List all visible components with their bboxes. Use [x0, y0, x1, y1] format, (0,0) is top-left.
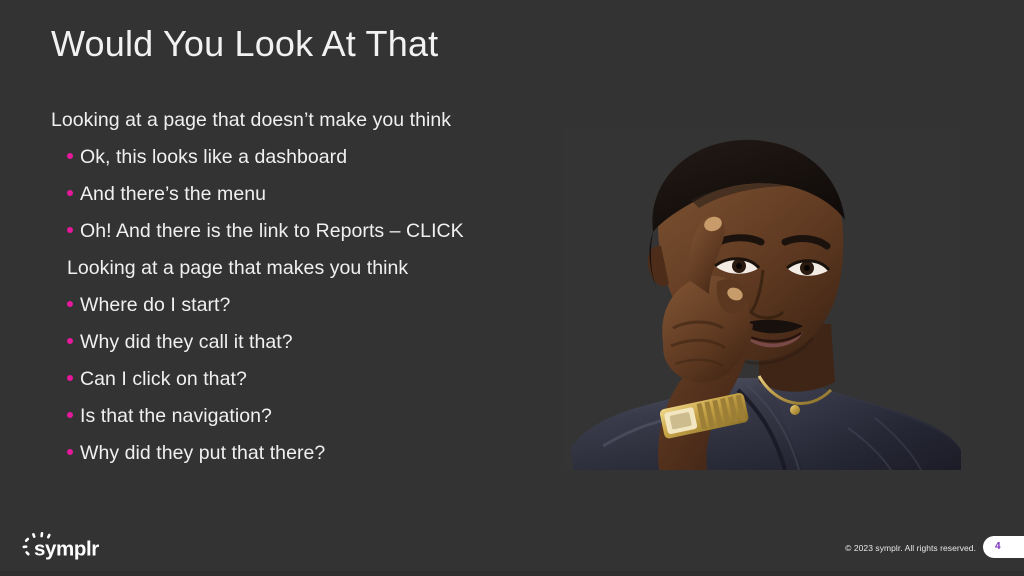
list-item: Why did they call it that?: [51, 331, 551, 368]
list-item: Why did they put that there?: [51, 442, 551, 479]
bullet-dot-icon: [67, 153, 73, 159]
content-line-text: Why did they call it that?: [80, 331, 293, 354]
content-line-text: Looking at a page that doesn’t make you …: [51, 109, 451, 132]
bullet-dot-icon: [67, 338, 73, 344]
bullet-dot-icon: [67, 301, 73, 307]
content-heading-2: Looking at a page that makes you think: [51, 257, 551, 294]
bullet-dot-icon: [67, 227, 73, 233]
list-item: And there’s the menu: [51, 183, 551, 220]
page-number: 4: [995, 542, 1001, 552]
list-item: Ok, this looks like a dashboard: [51, 146, 551, 183]
content-body: Looking at a page that doesn’t make you …: [51, 109, 551, 479]
content-line-text: Looking at a page that makes you think: [67, 257, 408, 280]
content-line-text: Where do I start?: [80, 294, 230, 317]
content-line-text: Ok, this looks like a dashboard: [80, 146, 347, 169]
svg-text:symplr: symplr: [34, 538, 99, 561]
page-number-badge: 4: [983, 536, 1024, 558]
thinking-man-photo: [563, 128, 961, 470]
bullet-dot-icon: [67, 449, 73, 455]
bullet-dot-icon: [67, 190, 73, 196]
content-line-text: Why did they put that there?: [80, 442, 325, 465]
content-line-text: And there’s the menu: [80, 183, 266, 206]
bullet-dot-icon: [67, 412, 73, 418]
list-item: Can I click on that?: [51, 368, 551, 405]
page-title: Would You Look At That: [51, 23, 438, 65]
symplr-starburst-logo: symplr: [22, 531, 117, 565]
copyright-text: © 2023 symplr. All rights reserved.: [845, 543, 976, 553]
list-item: Oh! And there is the link to Reports – C…: [51, 220, 551, 257]
content-heading-1: Looking at a page that doesn’t make you …: [51, 109, 551, 146]
bullet-dot-icon: [67, 375, 73, 381]
content-line-text: Is that the navigation?: [80, 405, 272, 428]
slide: Would You Look At That Looking at a page…: [0, 0, 1024, 576]
content-line-text: Oh! And there is the link to Reports – C…: [80, 220, 464, 243]
bottom-strip: [0, 571, 1024, 576]
list-item: Where do I start?: [51, 294, 551, 331]
list-item: Is that the navigation?: [51, 405, 551, 442]
content-line-text: Can I click on that?: [80, 368, 247, 391]
